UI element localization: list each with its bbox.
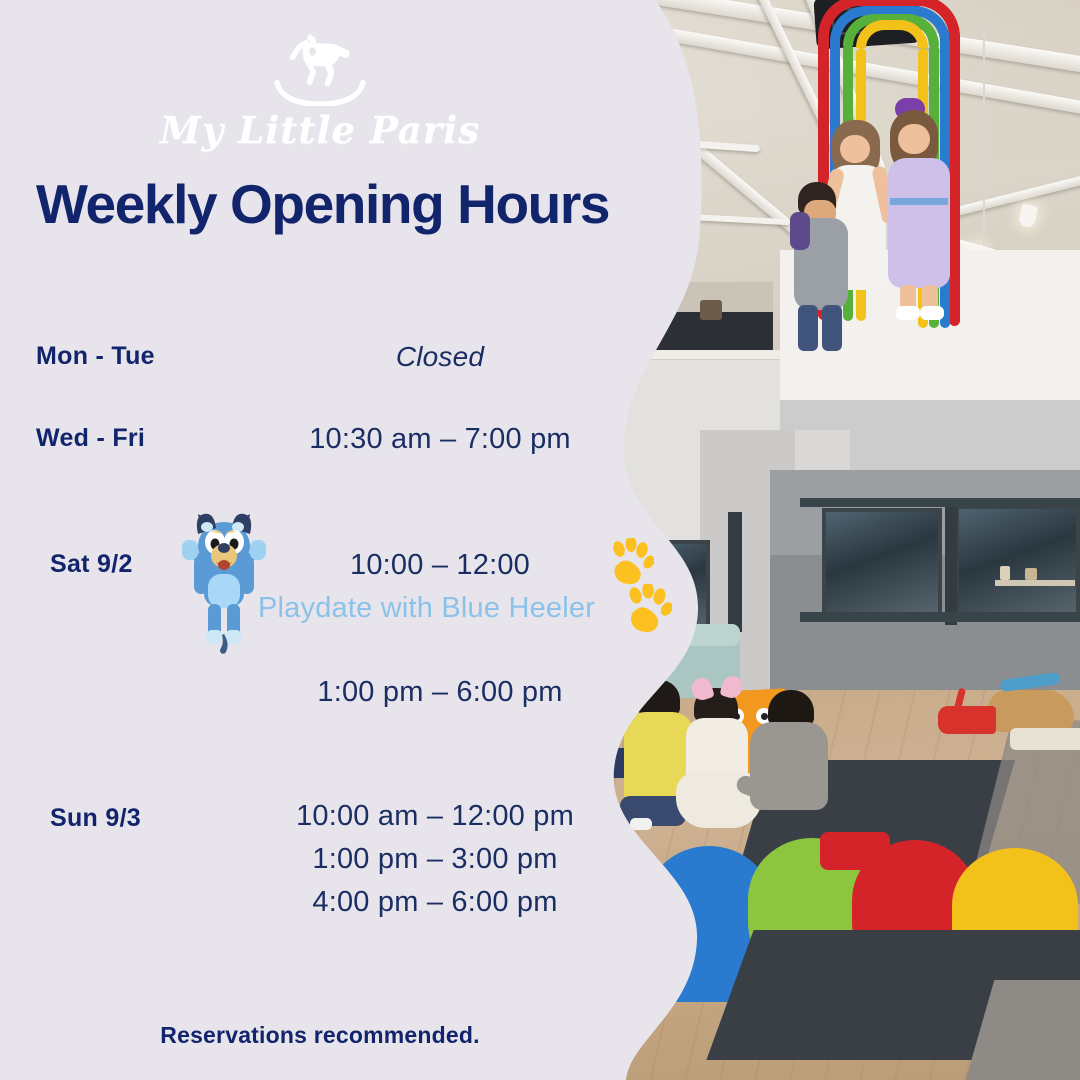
child-face — [840, 135, 870, 163]
shelf-item — [1000, 566, 1010, 580]
hours-sat-line-1: 10:00 – 12:00 — [280, 549, 600, 582]
brand-name: My Little Paris — [0, 108, 640, 152]
left-panel: My Little Paris Weekly Opening Hours Mon… — [0, 0, 640, 1080]
paw-print-icon — [622, 584, 672, 636]
reservation-note: Reservations recommended. — [0, 1022, 640, 1049]
glass-window — [822, 508, 942, 616]
child-backpack — [790, 212, 810, 250]
climb-post-red — [949, 30, 960, 326]
sat-event-label: Playdate with Blue Heeler — [258, 592, 595, 625]
hours-sun-line-2: 1:00 pm – 3:00 pm — [270, 843, 600, 876]
day-label-sun: Sun 9/3 — [50, 804, 141, 833]
poster: My Little Paris Weekly Opening Hours Mon… — [0, 0, 1080, 1080]
play-mat-white — [1010, 728, 1080, 750]
brand-logo: My Little Paris — [0, 28, 640, 152]
child-shoe — [920, 306, 944, 320]
hours-sun-line-3: 4:00 pm – 6:00 pm — [270, 886, 600, 919]
page-title: Weekly Opening Hours — [36, 172, 636, 236]
toy-cart-pupil — [761, 713, 768, 720]
window-mullion — [945, 500, 957, 625]
shelf-item — [1025, 568, 1037, 580]
hours-sat-line-2: 1:00 pm – 6:00 pm — [280, 676, 600, 709]
day-label-sat: Sat 9/2 — [50, 550, 133, 579]
window-mullion — [728, 512, 742, 632]
paw-print-icon — [606, 538, 654, 588]
red-ride-toy — [938, 706, 996, 734]
hours-mon-tue: Closed — [280, 341, 600, 373]
rocking-horse-icon — [267, 28, 373, 106]
hours-wed-fri: 10:30 am – 7:00 pm — [280, 423, 600, 456]
tube-top-block — [820, 832, 890, 870]
day-label-wed-fri: Wed - Fri — [36, 424, 145, 453]
child-hair — [768, 690, 814, 726]
child-leg — [798, 305, 818, 351]
wooden-toy — [988, 690, 1074, 732]
child-face — [898, 124, 930, 154]
blue-heeler-character-icon — [178, 512, 270, 654]
child-shoe — [896, 306, 920, 320]
window-sill — [800, 612, 1080, 622]
child-dress-purple — [888, 158, 950, 288]
glass-window — [955, 505, 1080, 617]
window-header — [800, 498, 1080, 507]
day-label-mon-tue: Mon - Tue — [36, 342, 155, 371]
light-cord — [983, 30, 985, 245]
hours-sun-line-1: 10:00 am – 12:00 pm — [270, 800, 600, 833]
child-leg — [822, 305, 842, 351]
dress-sash — [890, 198, 948, 205]
shelf — [995, 580, 1075, 586]
